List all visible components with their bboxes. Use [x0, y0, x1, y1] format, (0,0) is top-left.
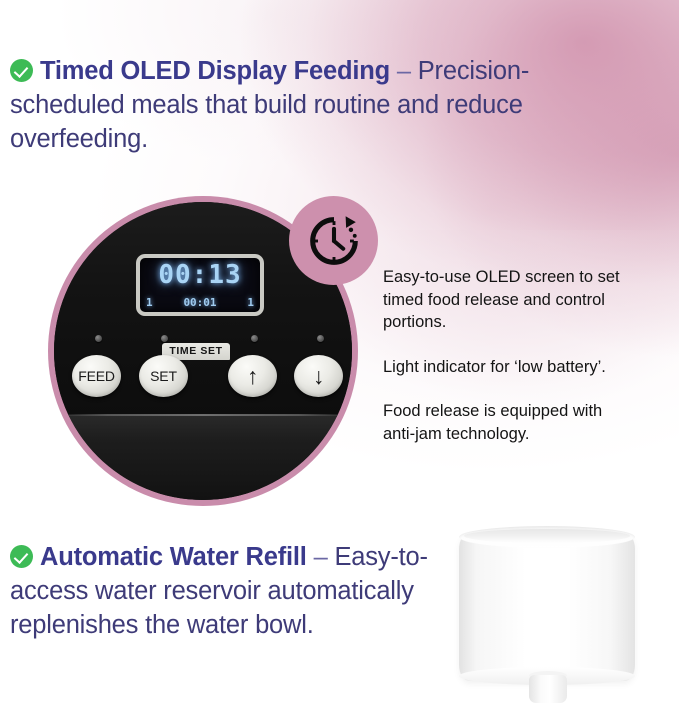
oled-main-time: 00:13 — [140, 260, 260, 290]
oled-sub-row: 1 00:01 1 — [146, 296, 254, 309]
oled-sub-right: 1 — [247, 296, 254, 309]
set-button[interactable]: SET — [139, 355, 188, 397]
feature-dash-2: – — [314, 543, 328, 571]
feed-button-label: FEED — [78, 368, 115, 384]
oled-sub-left: 1 — [146, 296, 153, 309]
up-arrow-icon: ↑ — [247, 365, 258, 388]
set-button-label: SET — [150, 368, 177, 384]
feature-title-1: Timed OLED Display Feeding — [40, 57, 390, 85]
feeder-seam-line — [54, 414, 352, 416]
reservoir-spout — [529, 675, 567, 703]
clock-badge — [289, 196, 378, 285]
led-indicator-4 — [317, 335, 324, 342]
down-arrow-icon: ↓ — [313, 365, 324, 388]
up-arrow-button[interactable]: ↑ — [228, 355, 277, 397]
check-circle-icon — [10, 59, 33, 82]
clock-history-icon — [303, 210, 365, 272]
feature-block-water-refill: Automatic Water Refill – Easy-to-access … — [10, 540, 465, 642]
oled-screen: 00:13 1 00:01 1 — [136, 254, 264, 316]
led-indicator-3 — [251, 335, 258, 342]
led-indicator-2 — [161, 335, 168, 342]
check-circle-icon — [10, 545, 33, 568]
feature-block-timed-feeding: Timed OLED Display Feeding – Precision-s… — [10, 54, 555, 156]
feature-headline-2: Automatic Water Refill – Easy-to-access … — [10, 540, 465, 642]
reservoir-body — [459, 533, 635, 681]
water-reservoir-photo — [450, 516, 656, 703]
feature-headline-1: Timed OLED Display Feeding – Precision-s… — [10, 54, 555, 156]
feed-button[interactable]: FEED — [72, 355, 121, 397]
note-item-1: Easy-to-use OLED screen to set timed foo… — [383, 266, 633, 334]
reservoir-rim — [464, 529, 630, 543]
down-arrow-button[interactable]: ↓ — [294, 355, 343, 397]
oled-sub-center: 00:01 — [183, 296, 216, 309]
feeder-lower-body — [54, 415, 352, 500]
note-item-3: Food release is equipped with anti-jam t… — [383, 400, 633, 445]
notes-column: Easy-to-use OLED screen to set timed foo… — [383, 266, 633, 445]
led-indicator-1 — [95, 335, 102, 342]
feature-dash-1: – — [397, 57, 411, 85]
feature-title-2: Automatic Water Refill — [40, 543, 307, 571]
note-item-2: Light indicator for ‘low battery’. — [383, 356, 633, 379]
